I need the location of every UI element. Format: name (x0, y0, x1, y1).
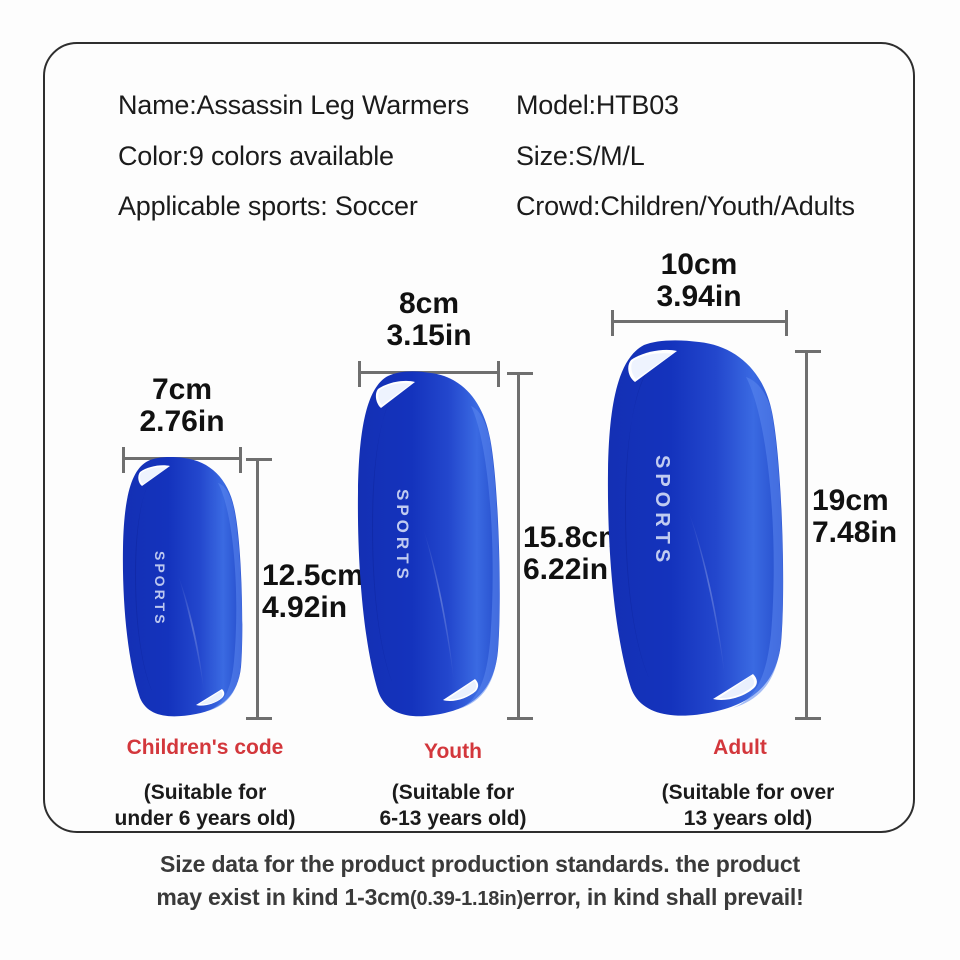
category-label-large: Adult (640, 736, 840, 760)
height-dimension-line-small (256, 458, 259, 720)
disclaimer-line1: Size data for the product production sta… (0, 848, 960, 881)
suitability-large: (Suitable for over 13 years old) (618, 780, 878, 831)
sports-logo-text-medium: SPORTS (393, 489, 412, 583)
width-dimension-line-large (611, 320, 788, 323)
product-illustrations: 7cm 2.76in 12.5cm 4.92in (0, 0, 960, 960)
width-label-small: 7cm 2.76in (92, 374, 272, 438)
width-in-medium: 3.15in (339, 320, 519, 352)
shin-guard-body-small (118, 455, 246, 720)
disclaimer-line2-a: may exist in kind 1-3cm (156, 884, 410, 910)
suitability-large-line2: 13 years old) (618, 806, 878, 832)
disclaimer-line2: may exist in kind 1-3cm(0.39-1.18in)erro… (0, 881, 960, 914)
width-label-medium: 8cm 3.15in (339, 288, 519, 352)
suitability-small-line1: (Suitable for (75, 780, 335, 806)
sports-logo-medium: SPORTS (392, 489, 412, 583)
shin-guard-large: SPORTS (600, 337, 790, 720)
shin-guard-body-large (600, 337, 790, 720)
suitability-medium-line1: (Suitable for (333, 780, 573, 806)
shin-guard-medium: SPORTS (352, 369, 504, 720)
category-label-medium: Youth (353, 740, 553, 764)
width-cm-medium: 8cm (339, 288, 519, 320)
width-cm-small: 7cm (92, 374, 272, 406)
width-cm-large: 10cm (609, 249, 789, 281)
disclaimer-line2-c: error, in kind shall prevail! (523, 884, 804, 910)
shin-guard-body-medium (352, 369, 504, 720)
height-in-large: 7.48in (812, 517, 960, 549)
sports-logo-text-large: SPORTS (651, 455, 673, 567)
sports-logo-small: SPORTS (152, 551, 168, 627)
product-size-chart: Name:Assassin Leg Warmers Model:HTB03 Co… (0, 0, 960, 960)
category-label-small: Children's code (90, 736, 320, 760)
height-dimension-line-large (805, 350, 808, 720)
height-cm-large: 19cm (812, 485, 960, 517)
height-dimension-line-medium (517, 372, 520, 720)
disclaimer: Size data for the product production sta… (0, 848, 960, 913)
suitability-small-line2: under 6 years old) (75, 806, 335, 832)
height-label-large: 19cm 7.48in (812, 485, 960, 549)
suitability-medium: (Suitable for 6-13 years old) (333, 780, 573, 831)
shin-guard-small: SPORTS (118, 455, 246, 720)
width-label-large: 10cm 3.94in (609, 249, 789, 313)
width-in-large: 3.94in (609, 281, 789, 313)
sports-logo-text-small: SPORTS (152, 551, 168, 627)
suitability-medium-line2: 6-13 years old) (333, 806, 573, 832)
width-in-small: 2.76in (92, 406, 272, 438)
sports-logo-large: SPORTS (650, 455, 673, 567)
suitability-small: (Suitable for under 6 years old) (75, 780, 335, 831)
suitability-large-line1: (Suitable for over (618, 780, 878, 806)
disclaimer-line2-inches: (0.39-1.18in) (410, 888, 523, 910)
